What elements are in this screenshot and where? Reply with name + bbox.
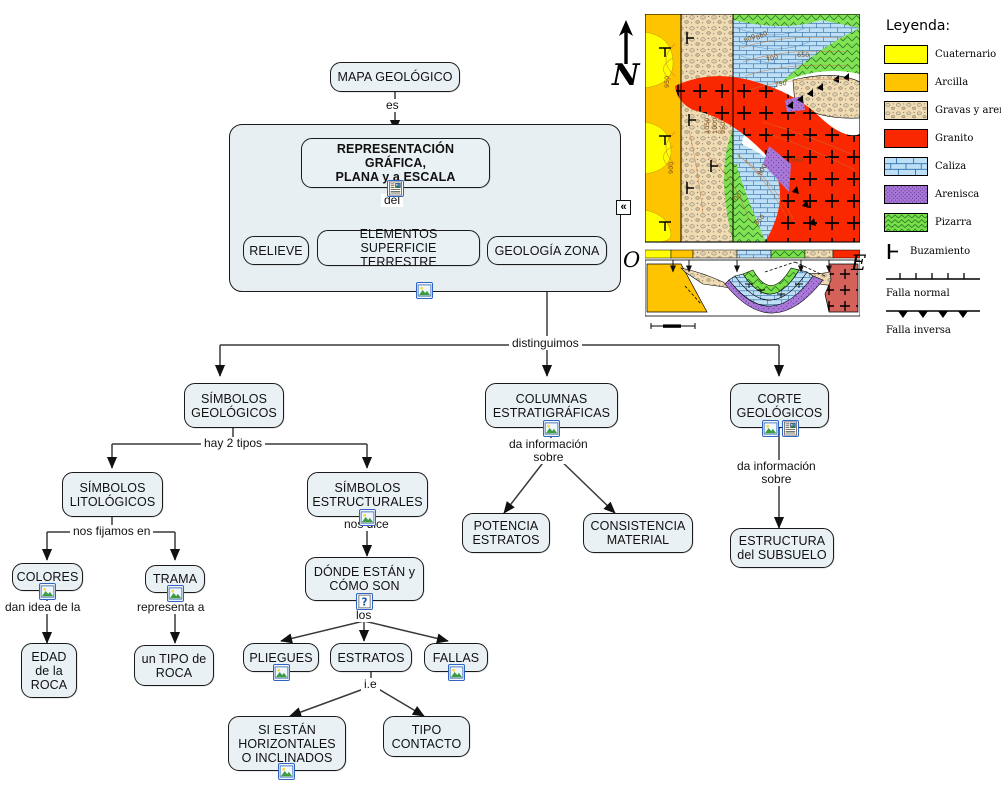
node-elementos-superficie-terrestre[interactable]: ELEMENTOS SUPERFICIE TERRESTRE [317, 230, 480, 266]
node-label: COLUMNAS ESTRATIGRÁFICAS [488, 392, 615, 420]
node-mapa-geologico[interactable]: MAPA GEOLÓGICO [330, 62, 460, 92]
legend-swatch-arenisca [884, 185, 928, 204]
picture-icon[interactable] [416, 282, 433, 299]
picture-icon[interactable] [273, 664, 290, 681]
node-label: POTENCIA ESTRATOS [467, 519, 544, 547]
node-label: CONSISTENCIA MATERIAL [586, 519, 691, 547]
legend-item: Gravas y arenas [884, 98, 999, 122]
note-icon[interactable] [387, 180, 404, 197]
svg-text:950: 950 [719, 122, 727, 134]
legend-symbol-falla-inversa: Falla inversa [884, 305, 999, 336]
node-label: ESTRUCTURA del SUBSUELO [732, 534, 831, 562]
legend-item: Arcilla [884, 70, 999, 94]
legend-label: Buzamiento [910, 246, 970, 257]
node-estratos[interactable]: ESTRATOS [330, 643, 412, 672]
node-label: DÓNDE ESTÁN y CÓMO SON [309, 565, 420, 593]
legend-swatch-gravas-y-arenas [884, 101, 928, 120]
legend-item: Arenisca [884, 182, 999, 206]
link-label-hay-2-tipos: hay 2 tipos [201, 437, 265, 450]
svg-text:1000: 1000 [711, 118, 719, 134]
legend-swatch-pizarra [884, 213, 928, 232]
picture-icon[interactable] [39, 583, 56, 600]
legend-label: Cuaternario [935, 49, 996, 60]
normal-fault-symbol-icon [884, 271, 982, 283]
node-label: REPRESENTACIÓN GRÁFICA, PLANA y a ESCALA [302, 142, 489, 184]
dip-symbol-icon [884, 242, 904, 261]
svg-text:950: 950 [791, 156, 803, 164]
legend-swatch-arcilla [884, 73, 928, 92]
picture-icon[interactable] [359, 509, 376, 526]
node-tipo-contacto[interactable]: TIPO CONTACTO [383, 716, 470, 757]
node-label: ESTRATOS [332, 651, 409, 665]
link-label-es: es [383, 99, 402, 112]
node-potencia-estratos[interactable]: POTENCIA ESTRATOS [462, 513, 550, 553]
concept-map-canvas: MAPA GEOLÓGICO REPRESENTACIÓN GRÁFICA, P… [0, 0, 1001, 789]
node-consistencia-material[interactable]: CONSISTENCIA MATERIAL [583, 513, 693, 553]
chevron-glyph: « [620, 201, 626, 213]
svg-text:1050: 1050 [703, 118, 711, 134]
compass-west-label: O [623, 248, 640, 272]
compass-north-label: N [612, 58, 639, 93]
link-label-los: los [353, 609, 374, 622]
node-simbolos-litologicos[interactable]: SÍMBOLOS LITOLÓGICOS [62, 472, 163, 517]
legend-label: Arenisca [935, 189, 979, 200]
node-label: un TIPO de ROCA [137, 652, 212, 680]
link-label-da-informacion-sobre-corte: da información sobre [734, 460, 819, 486]
collapse-chevron-icon[interactable]: « [616, 200, 631, 215]
link-label-da-informacion-sobre-columnas: da información sobre [506, 438, 591, 464]
reverse-fault-symbol-icon [884, 307, 982, 320]
svg-text:650: 650 [797, 51, 809, 59]
node-label: GEOLOGÍA ZONA [490, 244, 605, 258]
geological-map-figure: 650 700 750 800 850 950 700 850 800 1050… [645, 14, 860, 329]
legend-symbol-falla-normal: Falla normal [884, 268, 999, 299]
node-tipo-de-roca[interactable]: un TIPO de ROCA [134, 645, 214, 686]
note-icon[interactable] [782, 420, 799, 437]
node-label: SÍMBOLOS GEOLÓGICOS [186, 392, 282, 420]
node-label: TIPO CONTACTO [387, 723, 467, 751]
legend-label: Arcilla [935, 77, 968, 88]
link-label-nos-fijamos-en: nos fijamos en [70, 525, 153, 538]
link-label-ie: i.e [361, 678, 380, 691]
legend-item: Cuaternario [884, 42, 999, 66]
picture-icon[interactable] [278, 763, 295, 780]
node-geologia-zona[interactable]: GEOLOGÍA ZONA [487, 236, 607, 265]
node-label: ELEMENTOS SUPERFICIE TERRESTRE [318, 227, 479, 269]
picture-icon[interactable] [167, 585, 184, 602]
node-corte-geologicos[interactable]: CORTE GEOLÓGICOS [730, 383, 829, 428]
node-label: TRAMA [148, 572, 202, 586]
legend-title: Leyenda: [886, 18, 999, 34]
node-label: EDAD de la ROCA [26, 650, 73, 692]
node-simbolos-geologicos[interactable]: SÍMBOLOS GEOLÓGICOS [184, 383, 284, 428]
node-label: SÍMBOLOS ESTRUCTURALES [307, 481, 427, 509]
node-relieve[interactable]: RELIEVE [243, 236, 309, 265]
legend-label: Granito [935, 133, 973, 144]
legend-swatch-cuaternario [884, 45, 928, 64]
picture-icon[interactable] [448, 664, 465, 681]
node-label: SÍMBOLOS LITOLÓGICOS [65, 481, 161, 509]
node-label: MAPA GEOLÓGICO [332, 70, 457, 84]
legend-label: Caliza [935, 161, 966, 172]
legend-swatch-granito [884, 129, 928, 148]
picture-icon[interactable] [543, 420, 560, 437]
node-label: CORTE GEOLÓGICOS [732, 392, 828, 420]
link-label-dan-idea-de-la: dan idea de la [2, 601, 83, 614]
legend-label: Gravas y arenas [935, 105, 1001, 116]
node-estructura-subsuelo[interactable]: ESTRUCTURA del SUBSUELO [730, 528, 834, 568]
node-label: SI ESTÁN HORIZONTALES O INCLINADOS [233, 723, 341, 765]
legend-symbol-buzamiento: Buzamiento [884, 240, 999, 262]
legend-swatch-caliza [884, 157, 928, 176]
svg-text:?: ? [362, 596, 368, 608]
svg-text:950: 950 [663, 76, 671, 88]
legend-label: Falla normal [886, 288, 999, 299]
legend-item: Caliza [884, 154, 999, 178]
legend-item: Granito [884, 126, 999, 150]
svg-text:900: 900 [667, 162, 675, 174]
link-label-distinguimos: distinguimos [509, 337, 582, 350]
node-label: FALLAS [428, 651, 484, 665]
node-label: PLIEGUES [244, 651, 317, 665]
legend-label: Pizarra [935, 217, 972, 228]
legend-item: Pizarra [884, 210, 999, 234]
picture-icon[interactable] [762, 420, 779, 437]
node-edad-de-la-roca[interactable]: EDAD de la ROCA [21, 643, 77, 698]
node-label: COLORES [12, 570, 84, 584]
compass-east-label: E [851, 251, 866, 275]
node-label: RELIEVE [244, 244, 308, 258]
map-legend: Leyenda: Cuaternario Arcilla Gravas y ar… [884, 18, 999, 323]
legend-label: Falla inversa [886, 325, 999, 336]
link-label-representa-a: representa a [134, 601, 207, 614]
question-icon[interactable]: ? [356, 593, 373, 610]
